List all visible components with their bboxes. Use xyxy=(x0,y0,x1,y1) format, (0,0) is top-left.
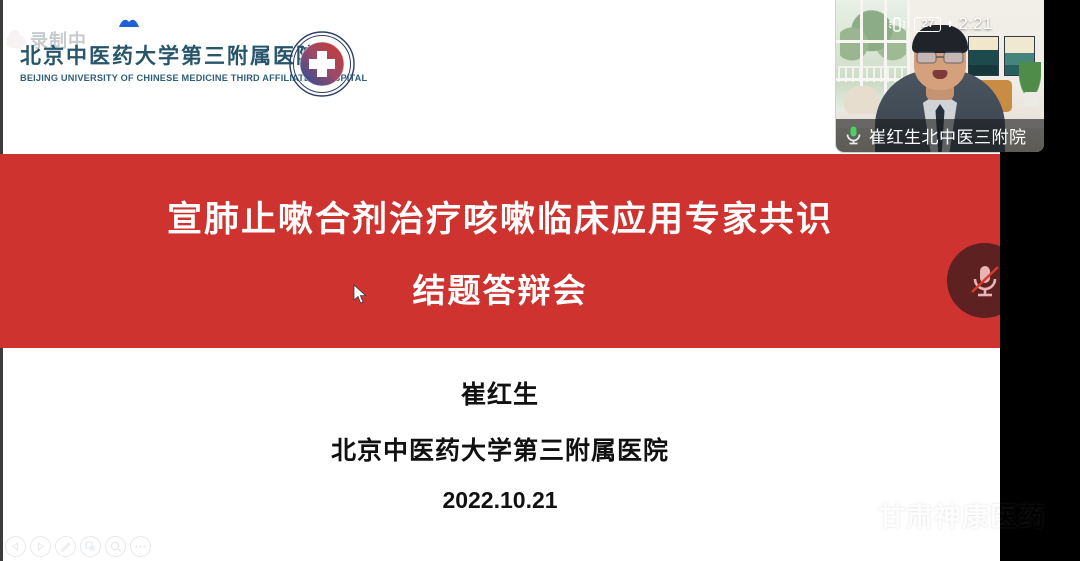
more-options-icon xyxy=(134,544,147,549)
vibrate-icon xyxy=(887,16,907,33)
annotate-button[interactable] xyxy=(55,536,76,557)
clock-time: 2:21 xyxy=(958,14,992,34)
next-slide-button[interactable] xyxy=(30,536,51,557)
glasses-icon xyxy=(914,50,966,64)
layout-button[interactable] xyxy=(80,536,101,557)
microphone-muted-icon xyxy=(967,261,1001,301)
participant-name-strip: 崔红生北中医三附院 xyxy=(836,119,1044,152)
slide-presenter-block: 崔红生 北京中医药大学第三附属医院 2022.10.21 xyxy=(0,375,1000,514)
annotation-toolbar[interactable] xyxy=(5,536,151,557)
participant-video-tile[interactable]: 27 2:21 崔红生北中医三附院 xyxy=(836,0,1044,152)
hospital-name-cn: 北京中医药大学第三附属医院 xyxy=(20,40,320,70)
microphone-icon xyxy=(845,125,862,146)
participant-name: 崔红生北中医三附院 xyxy=(869,123,1027,148)
pouf-decor xyxy=(844,86,880,114)
zoom-button[interactable] xyxy=(105,536,126,557)
pen-icon xyxy=(59,540,72,553)
slide-title-line-2: 结题答辩会 xyxy=(413,264,588,312)
hospital-logo: 北京中医药大学第三附属医院 BEIJING UNIVERSITY OF CHIN… xyxy=(20,40,320,83)
presentation-date: 2022.10.21 xyxy=(442,487,557,514)
next-slide-icon xyxy=(36,542,45,551)
more-options-button[interactable] xyxy=(130,536,151,557)
hospital-name-en: BEIJING UNIVERSITY OF CHINESE MEDICINE T… xyxy=(20,73,320,83)
presenter-affiliation: 北京中医药大学第三附属医院 xyxy=(331,431,669,467)
hospital-crest-icon xyxy=(288,30,356,98)
previous-slide-button[interactable] xyxy=(5,536,26,557)
slide-title-line-1: 宣肺止嗽合剂治疗咳嗽临床应用专家共识 xyxy=(167,191,833,242)
mouse-pointer-icon xyxy=(353,284,367,304)
previous-slide-icon xyxy=(11,542,20,551)
battery-icon xyxy=(949,21,951,27)
presenter-name: 崔红生 xyxy=(461,375,539,411)
battery-level: 27 xyxy=(914,17,941,32)
device-status-overlay: 27 2:21 xyxy=(836,14,1044,34)
planter-decor xyxy=(1024,92,1038,106)
window-mullion xyxy=(836,40,910,43)
slide-title-band: 宣肺止嗽合剂治疗咳嗽临床应用专家共识 结题答辩会 xyxy=(0,154,1000,348)
layout-icon xyxy=(85,541,97,553)
plant-decor xyxy=(1019,62,1041,96)
search-icon xyxy=(110,541,122,553)
blue-decor-icon xyxy=(118,18,140,28)
art-frame xyxy=(968,36,999,76)
